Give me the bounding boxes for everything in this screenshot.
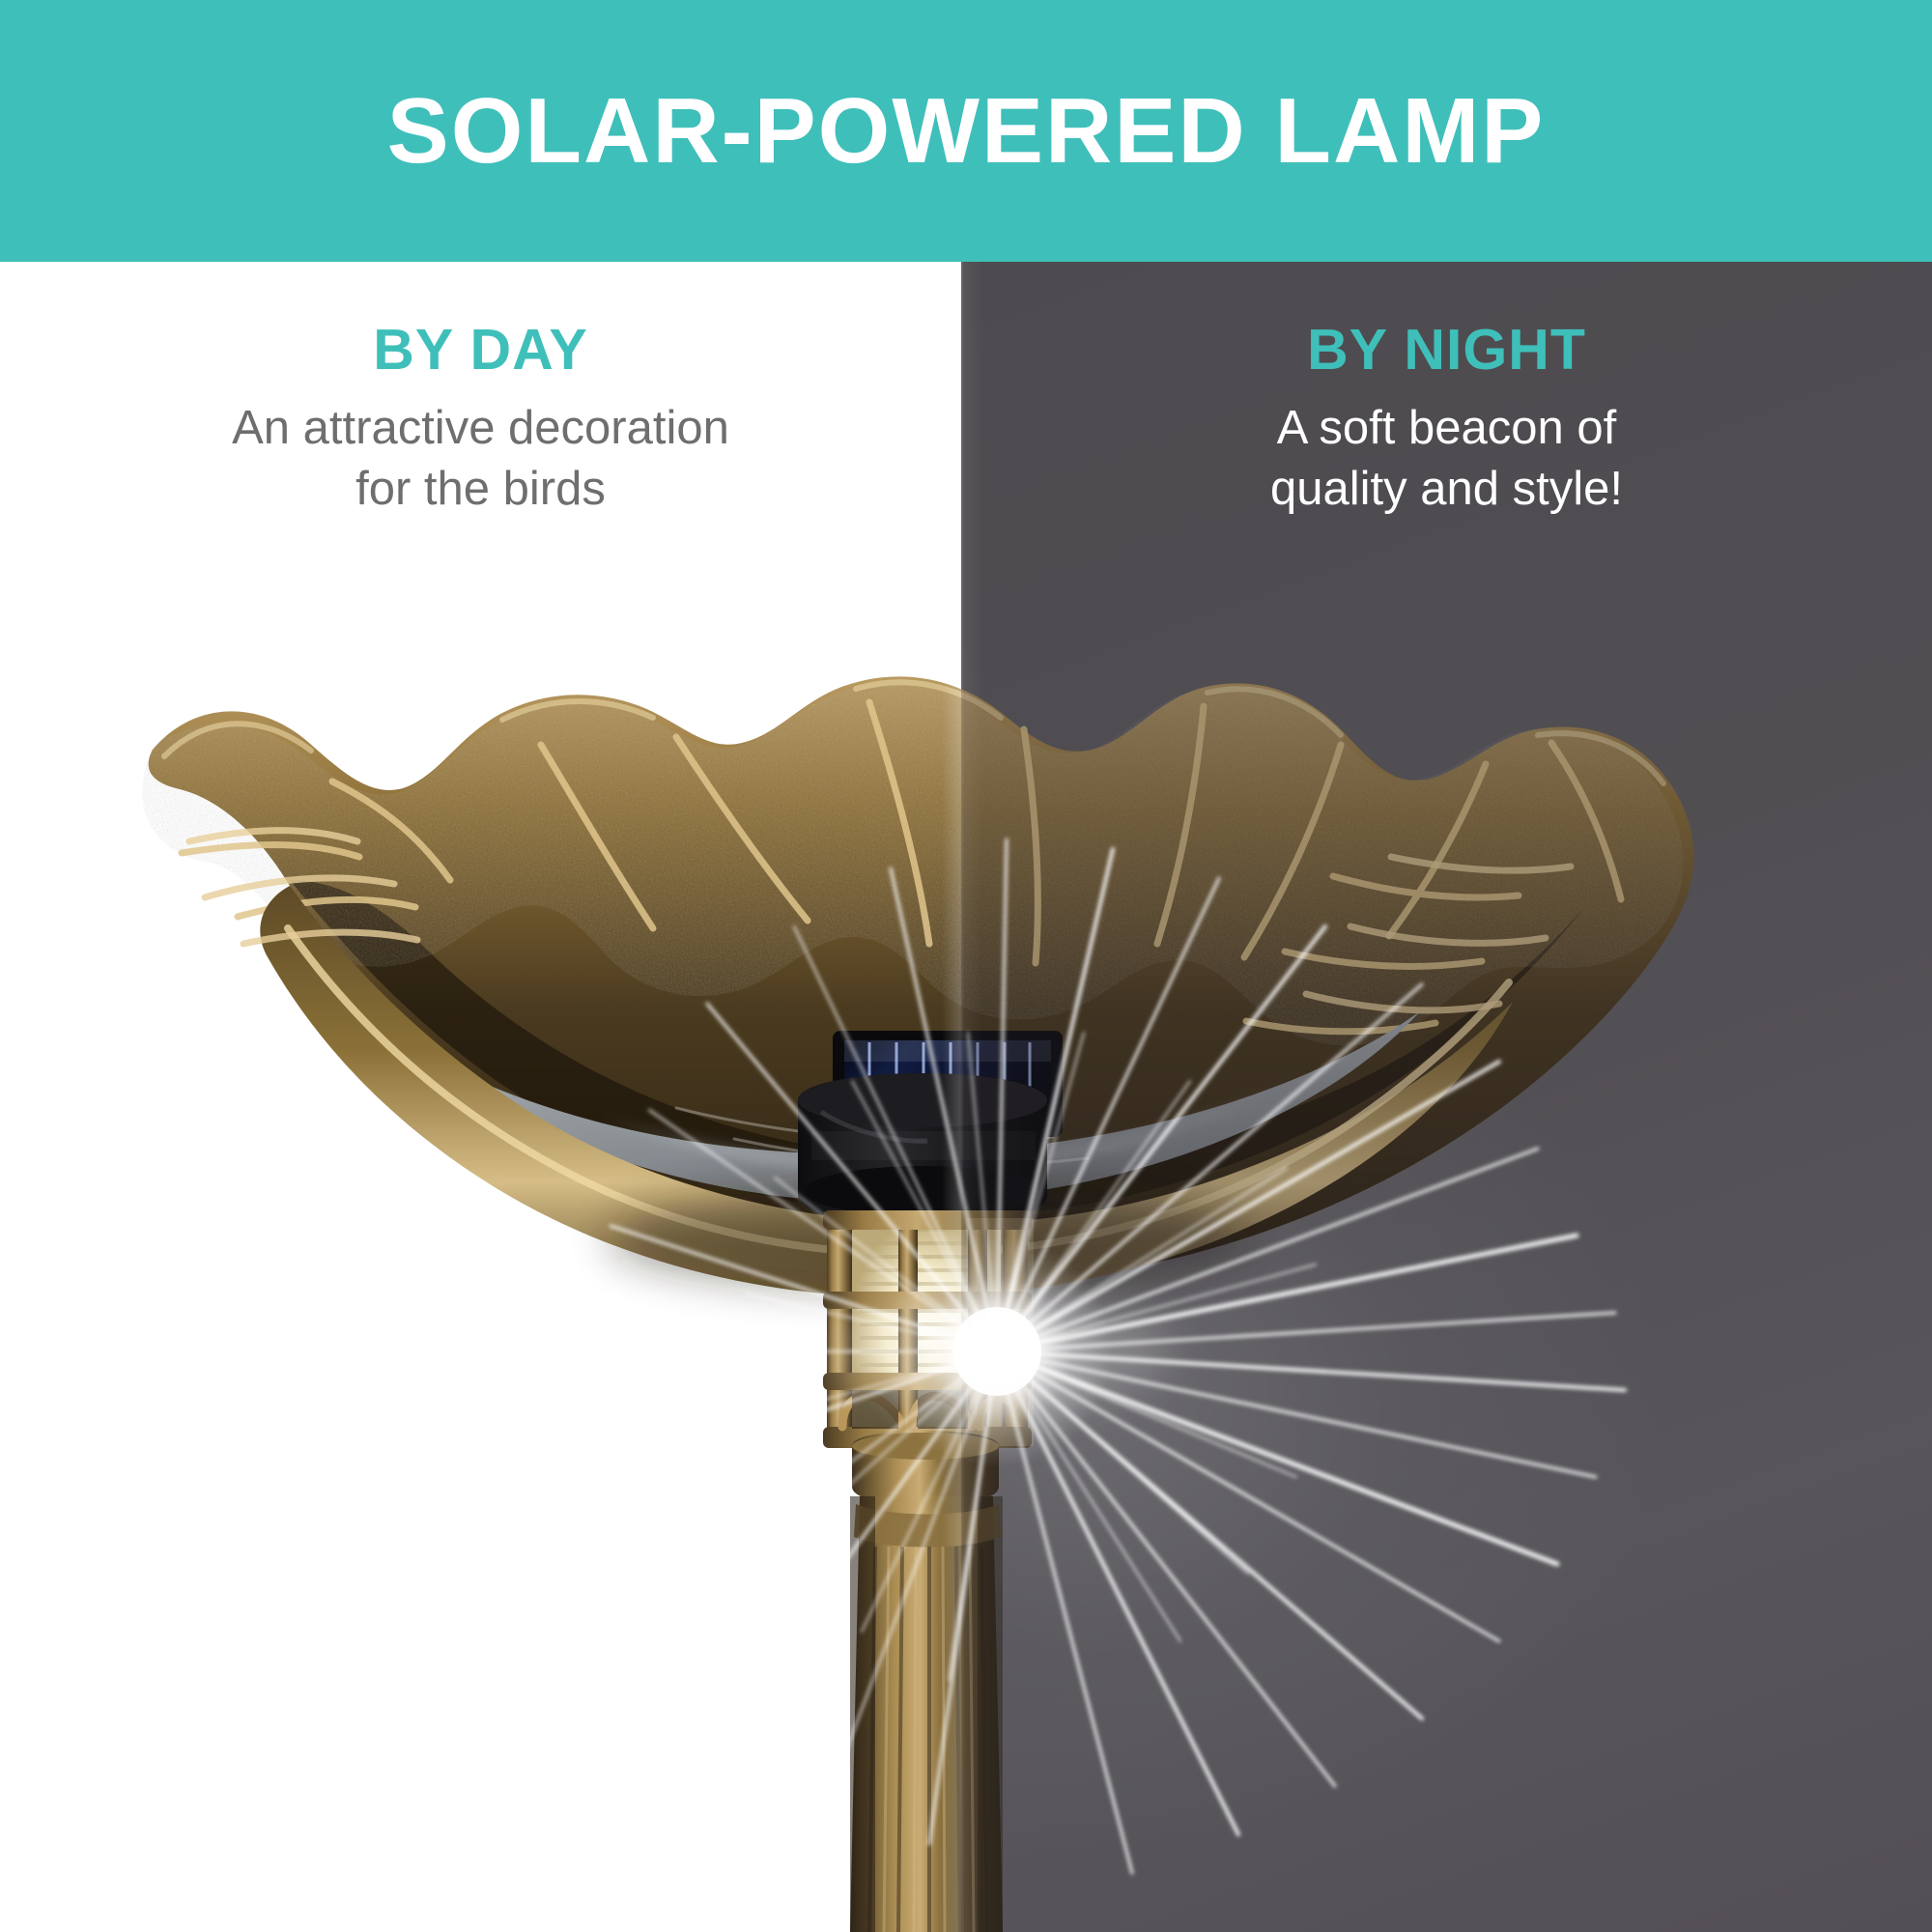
lamp-housing xyxy=(798,1073,1047,1226)
night-body-line-1: A soft beacon of xyxy=(961,398,1932,459)
header-banner: SOLAR-POWERED LAMP xyxy=(0,0,1932,262)
day-heading: BY DAY xyxy=(0,321,961,381)
night-body-line-2: quality and style! xyxy=(961,459,1932,520)
night-caption: BY NIGHT A soft beacon of quality and st… xyxy=(961,321,1932,519)
day-body-line-1: An attractive decoration xyxy=(0,398,961,459)
day-body: An attractive decoration for the birds xyxy=(0,398,961,519)
night-body: A soft beacon of quality and style! xyxy=(961,398,1932,519)
lantern xyxy=(823,1210,1034,1448)
night-heading: BY NIGHT xyxy=(961,321,1932,381)
banner-title: SOLAR-POWERED LAMP xyxy=(387,85,1546,178)
product-comparison-graphic: BY DAY An attractive decoration for the … xyxy=(0,0,1932,1932)
day-caption: BY DAY An attractive decoration for the … xyxy=(0,321,961,519)
lamp-post xyxy=(850,1431,1003,1932)
day-body-line-2: for the birds xyxy=(0,459,961,520)
